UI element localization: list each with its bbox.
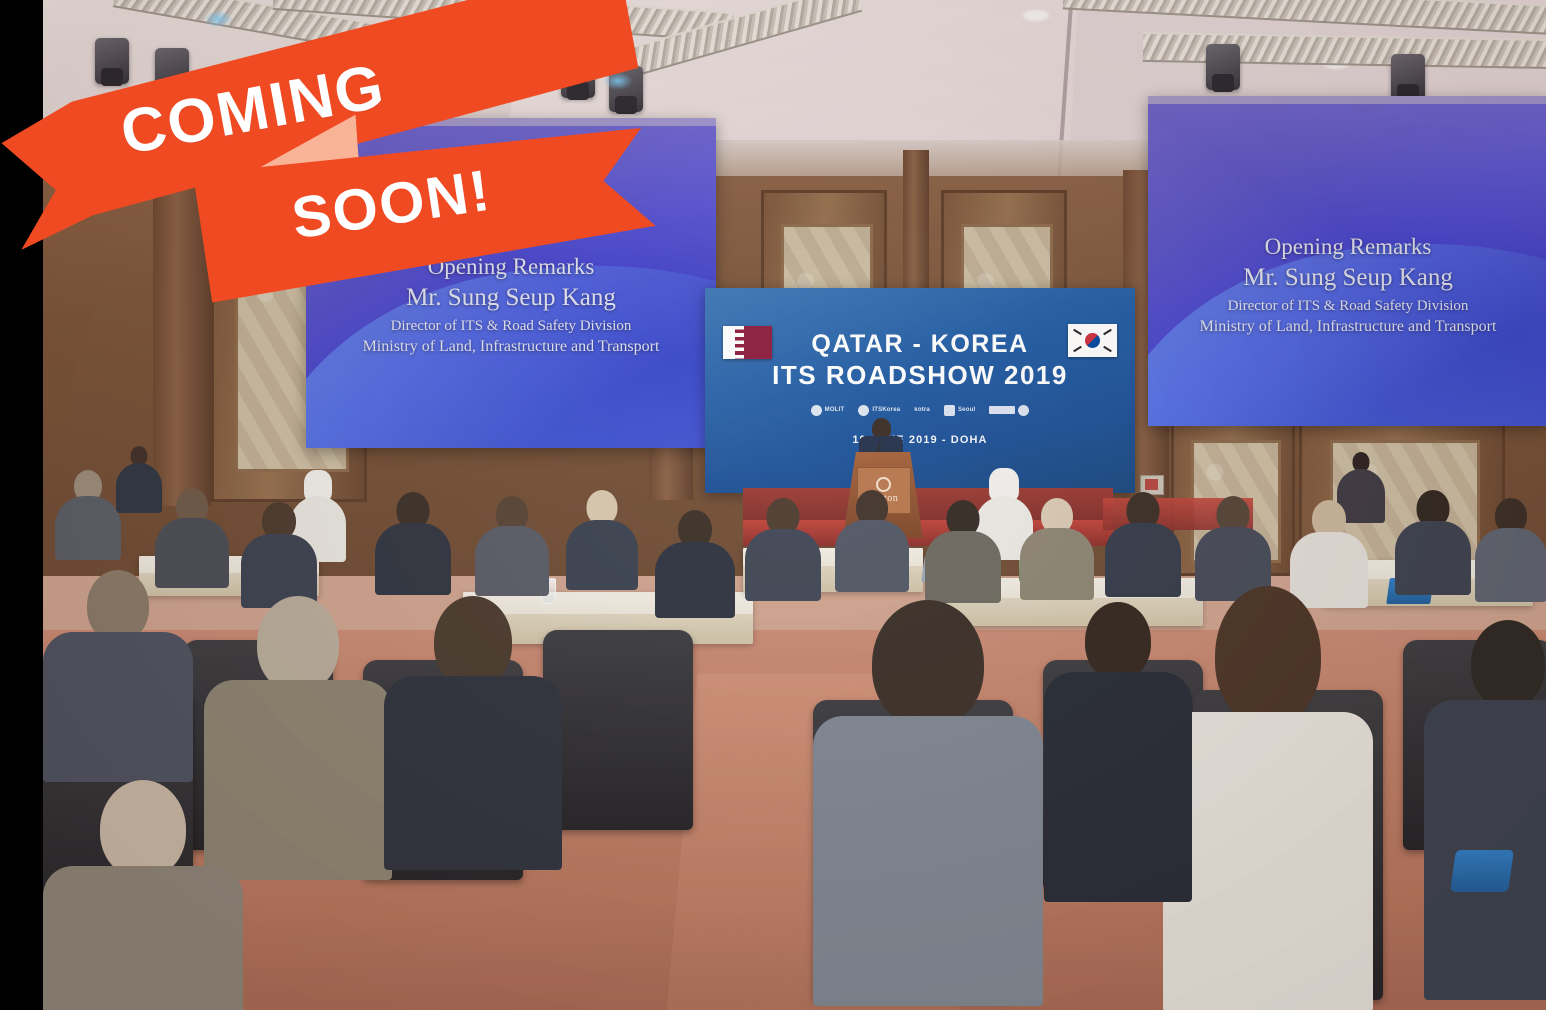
attendee-shoulders [925, 531, 1001, 603]
attendee-shoulders [43, 632, 193, 782]
attendee [1018, 498, 1096, 596]
attendee-head [434, 596, 512, 688]
attendee-shoulders [745, 529, 821, 601]
attendee-head [257, 596, 339, 692]
attendee-head [100, 780, 186, 878]
banner-date: 19 JUNE 2019 - DOHA [705, 434, 1135, 446]
attendee-shoulders [1163, 712, 1373, 1010]
molit-mark-icon [811, 405, 822, 416]
attendee [1393, 490, 1473, 590]
slide-line-3: Director of ITS & Road Safety Division [1148, 298, 1546, 315]
attendee-foreground [813, 600, 1043, 1000]
attendee-shoulders [1395, 521, 1471, 595]
attendee-head [1215, 586, 1321, 726]
slide-line-2: Mr. Sung Seup Kang [1148, 264, 1546, 292]
attendee-shoulders [384, 676, 562, 870]
partner-mark-icon [989, 406, 1015, 414]
attendee [1473, 498, 1546, 598]
stage-backdrop-banner: QATAR - KOREA ITS ROADSHOW 2019 MOLIT IT… [705, 288, 1135, 493]
attendee-head [872, 600, 984, 728]
sponsor-logo-row: MOLIT ITSKorea kotra Seoul [705, 400, 1135, 420]
kotra-label: kotra [914, 407, 930, 414]
screenshot-root: Opening Remarks Mr. Sung Seup Kang Direc… [0, 0, 1546, 1010]
molit-logo: MOLIT [811, 405, 845, 416]
attendee [563, 490, 641, 586]
banner-title-line2: ITS ROADSHOW 2019 [705, 360, 1135, 391]
attendee-head [1085, 602, 1151, 680]
attendee-shoulders [475, 526, 549, 596]
downlight-icon [1023, 10, 1049, 21]
attendee [473, 496, 551, 592]
attendee [1103, 492, 1183, 592]
moving-head-light-icon [1206, 44, 1240, 90]
its-korea-mark-icon [858, 405, 869, 416]
its-korea-logo: ITSKorea [858, 405, 900, 416]
attendee-shoulders [1020, 528, 1094, 600]
seoul-mark-icon [944, 405, 955, 416]
attendee [239, 502, 319, 602]
banquet-chair [543, 630, 693, 830]
partner-mark-circle-icon [1018, 405, 1029, 416]
attendee-foreground [1423, 620, 1546, 1010]
molit-label: MOLIT [825, 407, 845, 414]
slide-line-4: Ministry of Land, Infrastructure and Tra… [1148, 318, 1546, 336]
kotra-logo: kotra [914, 407, 930, 414]
its-korea-label: ITSKorea [872, 407, 900, 414]
attendee-foreground [43, 570, 193, 770]
attendee-shoulders [835, 520, 909, 592]
attendee-head [1471, 620, 1545, 708]
attendee-shoulders [1475, 528, 1546, 602]
attendee-shoulders [375, 523, 451, 595]
attendee [923, 500, 1003, 600]
moving-head-light-icon [1391, 54, 1425, 100]
slide-line-3: Director of ITS & Road Safety Division [306, 318, 716, 335]
attendee-shoulders [43, 866, 243, 1010]
partner-logo [989, 405, 1029, 416]
attendee [53, 470, 123, 556]
seoul-logo: Seoul [944, 405, 975, 416]
attendee-foreground [1043, 602, 1193, 902]
attendee-shoulders [566, 520, 638, 590]
attendee-foreground [383, 596, 563, 866]
attendee [743, 498, 823, 598]
ribbon-text-soon: SOON! [288, 157, 496, 253]
projection-screen-right: Opening Remarks Mr. Sung Seup Kang Direc… [1148, 96, 1546, 426]
seoul-label: Seoul [958, 407, 975, 414]
attendee-foreground [1163, 586, 1373, 1006]
slide-line-4: Ministry of Land, Infrastructure and Tra… [306, 338, 716, 356]
attendee-shoulders [813, 716, 1043, 1006]
slide-line-1: Opening Remarks [1148, 234, 1546, 260]
attendee-foreground [43, 780, 243, 1010]
attendee [1193, 496, 1273, 596]
attendee [373, 492, 453, 592]
tablet-device [1450, 850, 1514, 892]
attendee [653, 510, 737, 614]
attendee-shoulders [655, 542, 735, 618]
coming-soon-ribbon: COMING SOON! [0, 0, 700, 300]
attendee-shoulders [1044, 672, 1192, 902]
banner-title-line1: QATAR - KOREA [705, 330, 1135, 359]
attendee [833, 490, 911, 588]
attendee-shoulders [55, 496, 121, 560]
